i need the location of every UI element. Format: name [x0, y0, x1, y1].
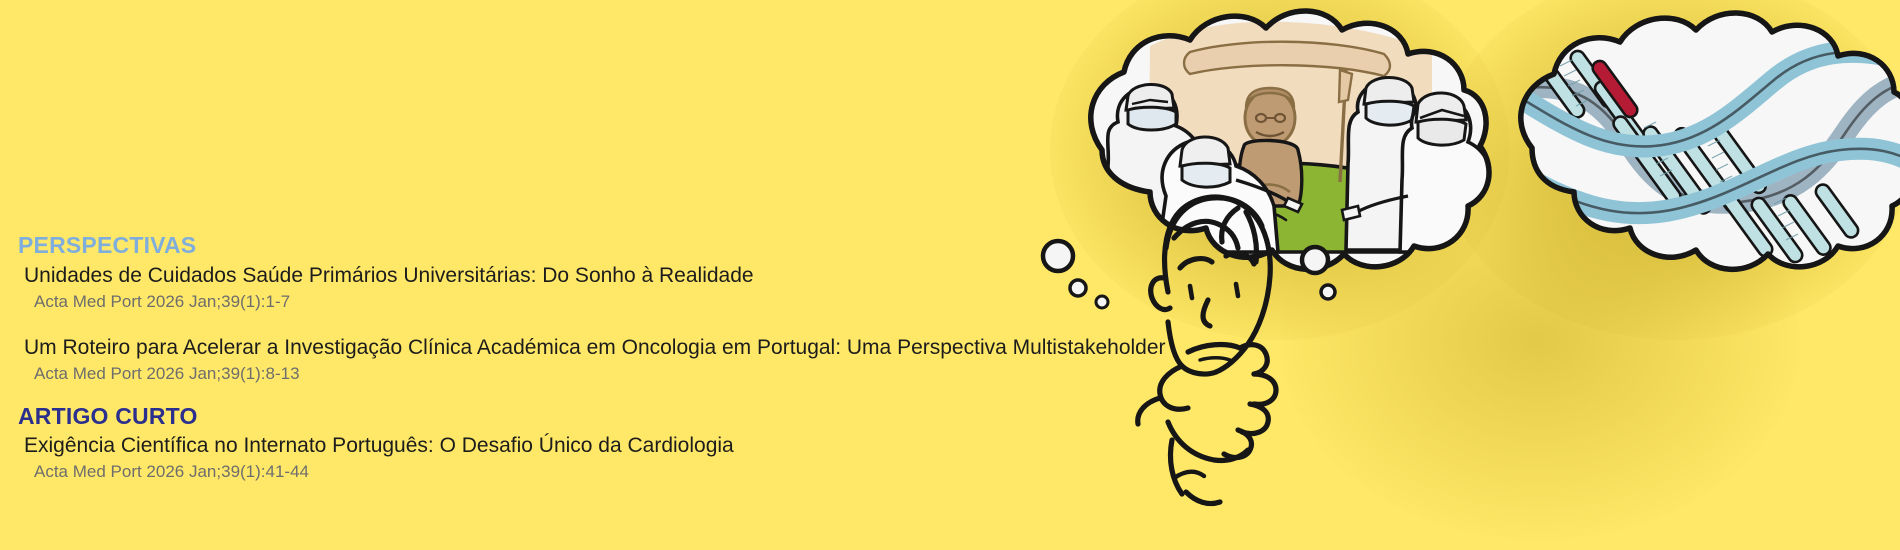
surgery-scene-thought-bubble-icon	[1091, 11, 1494, 269]
section-perspectivas: PERSPECTIVAS Unidades de Cuidados Saúde …	[0, 232, 1120, 385]
article-title[interactable]: Exigência Científica no Internato Portug…	[24, 433, 1120, 460]
article-citation: Acta Med Port 2026 Jan;39(1):8-13	[34, 363, 1120, 385]
journal-issue-banner: PERSPECTIVAS Unidades de Cuidados Saúde …	[0, 0, 1900, 550]
article-title[interactable]: Um Roteiro para Acelerar a Investigação …	[24, 335, 1120, 362]
toc-entry[interactable]: Unidades de Cuidados Saúde Primários Uni…	[0, 263, 1120, 313]
toc-entry[interactable]: Um Roteiro para Acelerar a Investigação …	[0, 335, 1120, 385]
article-citation: Acta Med Port 2026 Jan;39(1):41-44	[34, 461, 1120, 483]
section-heading-perspectivas: PERSPECTIVAS	[18, 232, 1120, 259]
section-artigo-curto: ARTIGO CURTO Exigência Científica no Int…	[0, 403, 1120, 484]
toc-entry[interactable]: Exigência Científica no Internato Portug…	[0, 433, 1120, 483]
article-citation: Acta Med Port 2026 Jan;39(1):1-7	[34, 291, 1120, 313]
table-of-contents: PERSPECTIVAS Unidades de Cuidados Saúde …	[0, 232, 1120, 501]
dna-helix-thought-bubble-icon	[1521, 13, 1900, 269]
header-illustration	[1040, 0, 1900, 550]
thinking-person-icon	[1138, 197, 1276, 504]
article-title[interactable]: Unidades de Cuidados Saúde Primários Uni…	[24, 263, 1120, 290]
section-heading-artigo-curto: ARTIGO CURTO	[18, 403, 1120, 430]
